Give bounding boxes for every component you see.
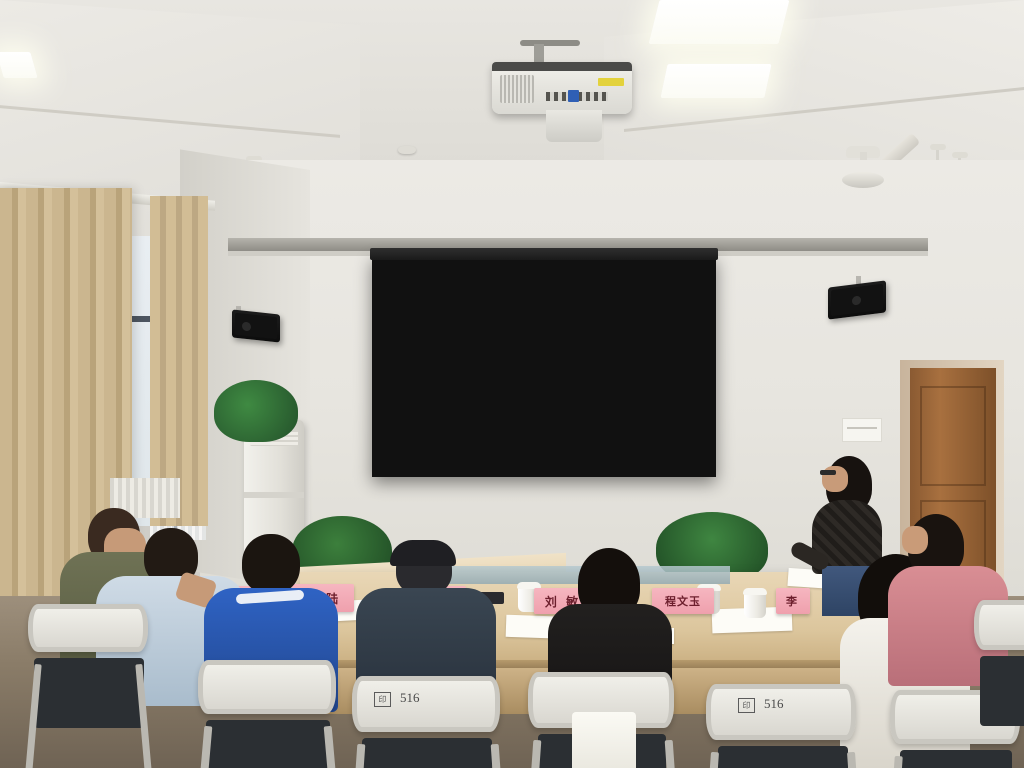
chair-backrest bbox=[974, 600, 1024, 650]
projection-screen-case bbox=[370, 248, 718, 260]
chair-backrest bbox=[198, 660, 336, 714]
projector-warning-label bbox=[598, 78, 624, 86]
chair-number: 516 bbox=[764, 696, 784, 712]
chair-seat bbox=[34, 658, 144, 728]
projector-mount-arm bbox=[520, 40, 580, 46]
chair-backrest bbox=[28, 604, 148, 652]
person-face bbox=[902, 526, 928, 554]
chair-seat bbox=[900, 750, 1012, 768]
wall-speaker-left bbox=[232, 309, 280, 342]
fan-hub bbox=[842, 172, 884, 188]
curtain-right[interactable] bbox=[150, 196, 208, 526]
projector-lens-housing bbox=[546, 110, 602, 142]
projector-vent bbox=[500, 75, 534, 103]
tea-cup-lid bbox=[743, 588, 767, 595]
chair-stamp-icon: 印 bbox=[738, 698, 755, 713]
door-panel-upper bbox=[920, 386, 986, 486]
wall-notice bbox=[842, 418, 882, 442]
rod-ceiling-cap bbox=[952, 152, 968, 158]
namecard: 李 bbox=[776, 588, 810, 614]
potted-plant-wall bbox=[214, 380, 298, 442]
ceiling-light-panel bbox=[649, 0, 790, 44]
glasses-icon bbox=[820, 470, 836, 475]
projector-vga-port bbox=[568, 90, 579, 102]
chair-seat bbox=[718, 746, 848, 768]
chair-seat bbox=[206, 720, 330, 768]
chair-stamp-icon: 印 bbox=[374, 692, 391, 707]
ceiling-projector bbox=[492, 62, 632, 114]
projection-screen bbox=[372, 255, 716, 477]
ac-display-band bbox=[244, 492, 304, 498]
speaker-driver bbox=[242, 322, 251, 332]
ceiling-light-panel bbox=[660, 64, 771, 98]
chair-seat bbox=[362, 738, 492, 768]
meeting-room-photo: 三、增强内涵建设，提升发展软实力 ✦ 西南医科大学 SOUTHWEST MEDI… bbox=[0, 0, 1024, 768]
person-head bbox=[242, 534, 300, 594]
tea-cup[interactable] bbox=[744, 592, 766, 618]
smoke-detector-icon bbox=[398, 146, 416, 154]
projector-top-trim bbox=[492, 62, 632, 71]
chair-backrest bbox=[706, 684, 856, 740]
chair-seat bbox=[980, 656, 1024, 726]
draped-towel bbox=[572, 712, 636, 768]
chair-number: 516 bbox=[400, 690, 420, 706]
baseball-cap bbox=[390, 540, 456, 566]
rod-ceiling-cap bbox=[930, 144, 946, 150]
